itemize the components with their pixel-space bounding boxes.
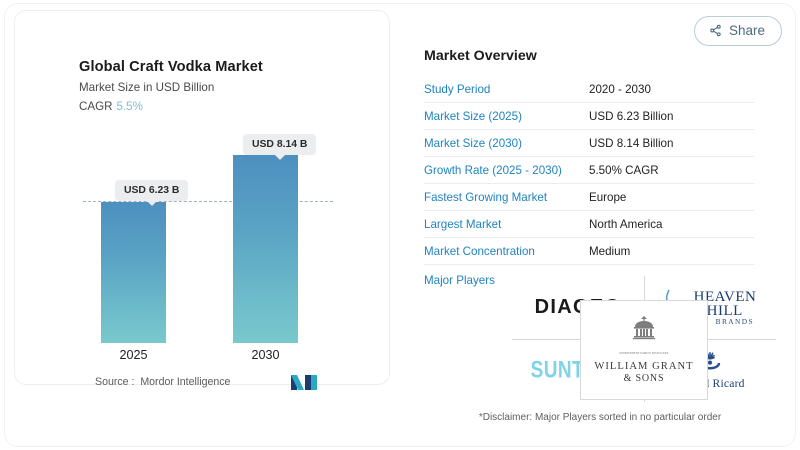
bar-label-2025: USD 6.23 B [115, 180, 188, 201]
row-key: Market Concentration [424, 245, 589, 258]
william-grant-line1: WILLIAM GRANT [594, 360, 693, 373]
bar-2030[interactable] [233, 155, 298, 343]
disclaimer-text: *Disclaimer: Major Players sorted in no … [424, 412, 776, 423]
row-value: 5.50% CAGR [589, 164, 659, 177]
bar-label-2030: USD 8.14 B [243, 134, 316, 155]
row-value: 2020 - 2030 [589, 83, 651, 96]
market-overview-title: Market Overview [424, 48, 537, 64]
source-name: Mordor Intelligence [140, 376, 230, 388]
table-row: Study Period 2020 - 2030 [424, 76, 754, 103]
table-row: Market Concentration Medium [424, 238, 754, 265]
row-key: Study Period [424, 83, 589, 96]
heaven-hill-line3: BRANDS [716, 318, 757, 325]
market-overview-table: Study Period 2020 - 2030 Market Size (20… [424, 76, 754, 265]
bar-chart-plot: USD 6.23 B USD 8.14 B 2025 2030 [15, 11, 391, 386]
source-label: Source : [95, 376, 134, 388]
mordor-intelligence-logo [291, 374, 317, 395]
major-players-grid: DIAGEO HEAVEN HILL BRANDS [512, 276, 776, 402]
chart-card: Global Craft Vodka Market Market Size in… [14, 10, 390, 385]
row-value: Europe [589, 191, 626, 204]
row-value: USD 8.14 Billion [589, 137, 673, 150]
x-axis-label-2025: 2025 [101, 348, 166, 362]
x-axis-label-2030: 2030 [233, 348, 298, 362]
screenshot-root: Share Global Craft Vodka Market Market S… [0, 0, 800, 450]
table-row: Market Size (2025) USD 6.23 Billion [424, 103, 754, 130]
william-grant-crest-icon [627, 315, 661, 350]
row-value: North America [589, 218, 662, 231]
market-overview-panel: Market Overview Study Period 2020 - 2030… [424, 0, 776, 450]
source-line: Source : Mordor Intelligence [95, 376, 230, 388]
row-key: Largest Market [424, 218, 589, 231]
row-value: Medium [589, 245, 630, 258]
table-row: Growth Rate (2025 - 2030) 5.50% CAGR [424, 157, 754, 184]
logo-cell-william-grant: INDEPENDENT FAMILY DISTILLERS WILLIAM GR… [580, 300, 708, 400]
row-value: USD 6.23 Billion [589, 110, 673, 123]
heaven-hill-line2: HILL [707, 304, 757, 318]
row-key: Market Size (2025) [424, 110, 589, 123]
william-grant-micro-text: INDEPENDENT FAMILY DISTILLERS [619, 352, 668, 355]
table-row: Largest Market North America [424, 211, 754, 238]
william-grant-line2: & SONS [594, 373, 693, 386]
row-key: Market Size (2030) [424, 137, 589, 150]
row-key: Fastest Growing Market [424, 191, 589, 204]
table-row: Market Size (2030) USD 8.14 Billion [424, 130, 754, 157]
major-players-title: Major Players [424, 274, 495, 287]
bar-2025[interactable] [101, 202, 166, 343]
row-key: Growth Rate (2025 - 2030) [424, 164, 589, 177]
table-row: Fastest Growing Market Europe [424, 184, 754, 211]
